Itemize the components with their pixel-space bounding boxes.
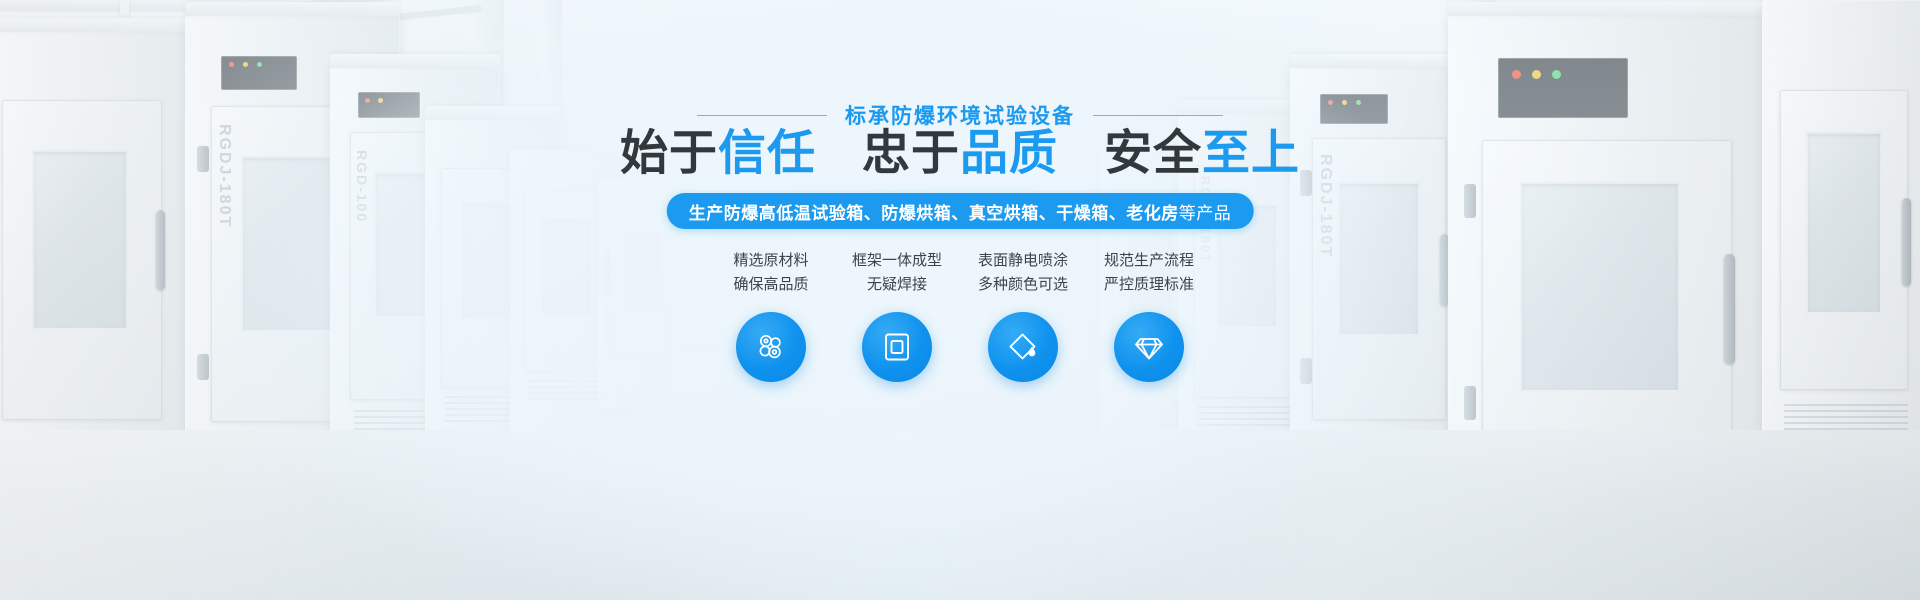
headline-blue-1: 信任 — [718, 126, 816, 181]
feature-list: 精选原材料 确保高品质 框架一体成型 — [721, 250, 1199, 382]
headline-phrase-2: 忠于 品质 — [862, 126, 1058, 181]
feature-icon-circle[interactable] — [862, 312, 932, 382]
headline-phrase-3: 安全 至上 — [1104, 126, 1300, 181]
feature-item[interactable]: 精选原材料 确保高品质 — [721, 250, 821, 382]
feature-text: 表面静电喷涂 多种颜色可选 — [978, 250, 1068, 296]
feature-line-2: 严控质理标准 — [1104, 274, 1194, 296]
diamond-icon — [1132, 330, 1166, 364]
product-list-pill: 生产防爆高低温试验箱、防爆烘箱、真空烘箱、干燥箱、老化房 等产品 — [667, 193, 1254, 229]
headline-dark-1: 始于 — [620, 126, 718, 181]
feature-item[interactable]: 框架一体成型 无疑焊接 — [847, 250, 947, 382]
banner-content: 标承防爆环境试验设备 始于 信任 忠于 品质 安全 至上 生产防爆高低温试验箱、… — [0, 0, 1920, 600]
feature-line-1: 表面静电喷涂 — [978, 250, 1068, 272]
pill-soft-text: 等产品 — [1179, 199, 1232, 224]
feature-line-1: 规范生产流程 — [1104, 250, 1194, 272]
feature-line-2: 无疑焊接 — [867, 274, 927, 296]
feature-item[interactable]: 表面静电喷涂 多种颜色可选 — [973, 250, 1073, 382]
headline-dark-2: 忠于 — [862, 126, 960, 181]
feature-line-2: 确保高品质 — [733, 274, 808, 296]
feature-text: 精选原材料 确保高品质 — [733, 250, 808, 296]
feature-line-1: 框架一体成型 — [852, 250, 942, 272]
feature-icon-circle[interactable] — [988, 312, 1058, 382]
pill-strong-text: 生产防爆高低温试验箱、防爆烘箱、真空烘箱、干燥箱、老化房 — [689, 199, 1179, 224]
frame-box-icon — [881, 331, 913, 363]
feature-icon-circle[interactable] — [736, 312, 806, 382]
headline-blue-3: 至上 — [1202, 126, 1300, 181]
headline-blue-2: 品质 — [960, 126, 1058, 181]
headline: 始于 信任 忠于 品质 安全 至上 — [620, 126, 1300, 181]
material-circles-icon — [754, 330, 788, 364]
feature-text: 框架一体成型 无疑焊接 — [852, 250, 942, 296]
spray-paint-icon — [1006, 330, 1040, 364]
headline-dark-3: 安全 — [1104, 126, 1202, 181]
rule-left — [697, 115, 827, 116]
feature-item[interactable]: 规范生产流程 严控质理标准 — [1099, 250, 1199, 382]
rule-right — [1093, 115, 1223, 116]
feature-line-2: 多种颜色可选 — [978, 274, 1068, 296]
hero-banner: RGDJ-180T RGD-100 — [0, 0, 1920, 600]
headline-phrase-1: 始于 信任 — [620, 126, 816, 181]
feature-line-1: 精选原材料 — [733, 250, 808, 272]
feature-text: 规范生产流程 严控质理标准 — [1104, 250, 1194, 296]
feature-icon-circle[interactable] — [1114, 312, 1184, 382]
